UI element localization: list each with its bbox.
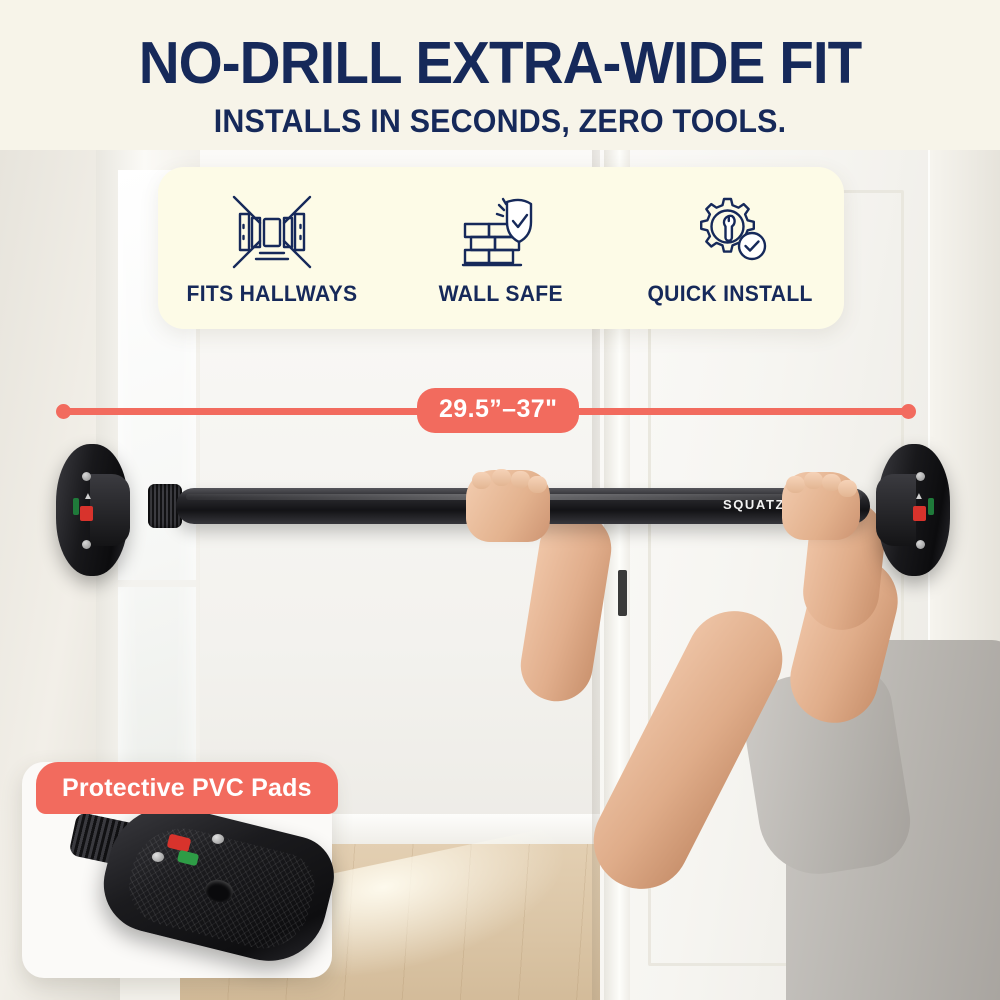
pad-screw <box>212 834 224 844</box>
feature-badge-label: WALL SAFE <box>439 281 563 307</box>
left-hand <box>466 470 550 542</box>
product-marketing-image: ▲ SQUATZ ▲ <box>0 0 1000 1000</box>
mount-screw <box>916 540 925 549</box>
indicator-green <box>73 498 79 515</box>
feature-badge-label: FITS HALLWAYS <box>187 281 358 307</box>
indicator-red <box>80 506 93 521</box>
gear-wrench-check-icon <box>688 189 772 275</box>
feature-badge-fits-hallways: FITS HALLWAYS <box>166 189 379 307</box>
feature-badge-label: QUICK INSTALL <box>647 281 812 307</box>
feature-badge-card: FITS HALLWAYS WALL <box>158 167 844 329</box>
chevron-up-icon: ▲ <box>83 492 93 502</box>
mount-screw <box>82 540 91 549</box>
mount-screw <box>82 472 91 481</box>
feature-badge-wall-safe: WALL SAFE <box>395 189 608 307</box>
right-hand <box>782 472 860 540</box>
inset-label: Protective PVC Pads <box>36 762 338 814</box>
indicator-green <box>928 498 934 515</box>
wall-mount-bracket-icon: ▲ <box>878 444 950 576</box>
mount-cone <box>876 474 916 546</box>
mount-screw <box>916 472 925 481</box>
measurement-badge: 29.5”–37" <box>417 388 579 433</box>
pad-screw <box>152 852 164 862</box>
mount-cone <box>90 474 130 546</box>
page-subtitle: INSTALLS IN SECONDS, ZERO TOOLS. <box>25 105 975 137</box>
chevron-up-icon: ▲ <box>914 492 924 502</box>
brick-wall-shield-icon <box>459 189 543 275</box>
feature-badge-quick-install: QUICK INSTALL <box>623 189 836 307</box>
wall-mount-bracket-icon: ▲ <box>56 444 128 576</box>
measure-endpoint-right <box>901 404 916 419</box>
hallway-icon <box>230 189 314 275</box>
page-title: NO-DRILL EXTRA-WIDE FIT <box>20 34 980 93</box>
indicator-red <box>913 506 926 521</box>
